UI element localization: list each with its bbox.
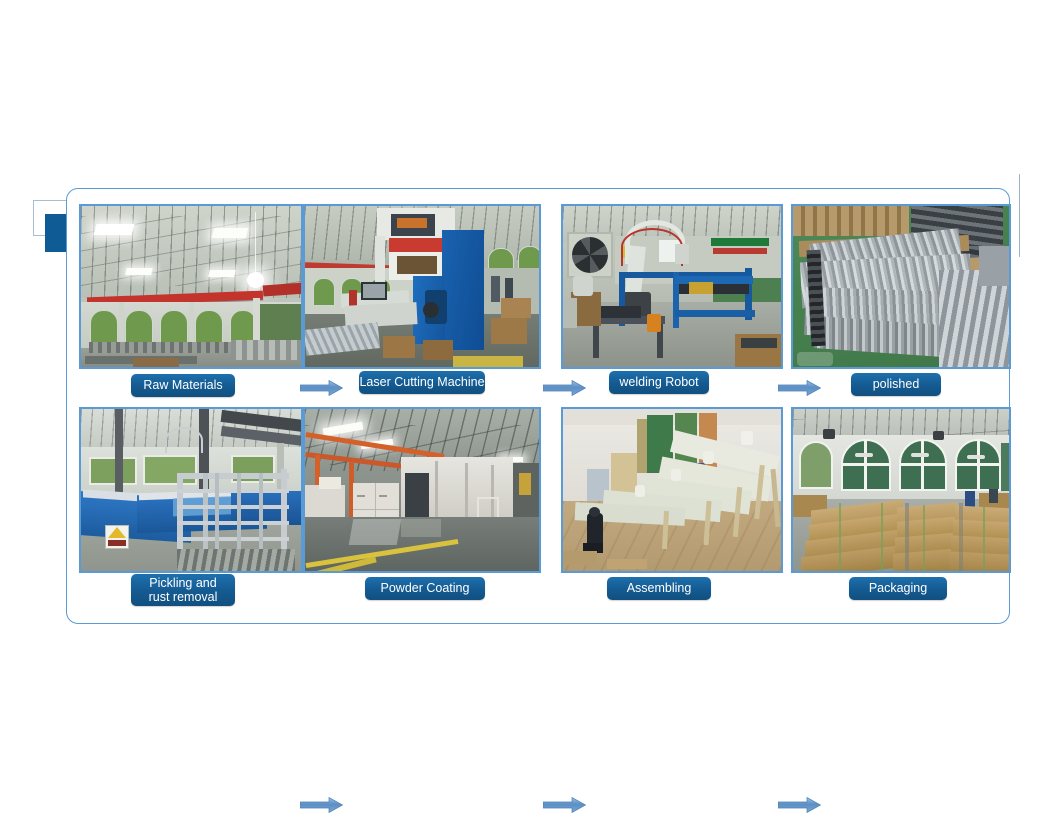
assembly-area-photo bbox=[561, 407, 783, 573]
workflow-step-polished[interactable]: polished bbox=[781, 195, 1011, 400]
step-label-line-2: rust removal bbox=[149, 590, 218, 604]
arrow-right-icon bbox=[300, 797, 343, 813]
step-label-welding-robot[interactable]: welding Robot bbox=[609, 371, 709, 394]
welding-robot-photo bbox=[561, 204, 783, 369]
polished-parts-photo bbox=[791, 204, 1011, 369]
step-label-powder-coating[interactable]: Powder Coating bbox=[365, 577, 485, 600]
workflow-step-packaging[interactable]: Packaging bbox=[781, 401, 1011, 606]
step-label-pickling[interactable]: Pickling and rust removal bbox=[131, 574, 235, 606]
workflow-step-powder-coating[interactable]: Powder Coating bbox=[303, 401, 551, 606]
step-label-raw-materials[interactable]: Raw Materials bbox=[131, 374, 235, 397]
packaging-warehouse-photo bbox=[791, 407, 1011, 573]
workflow-step-laser-cutting[interactable]: Laser Cutting Machine bbox=[303, 195, 551, 400]
header-divider-line bbox=[1019, 174, 1021, 257]
step-label-line-1: Pickling and bbox=[149, 576, 216, 590]
workflow-step-raw-materials[interactable]: Raw Materials bbox=[67, 195, 315, 400]
factory-workshop-photo bbox=[79, 204, 303, 369]
arrow-right-icon bbox=[778, 797, 821, 813]
step-label-packaging[interactable]: Packaging bbox=[849, 577, 947, 600]
arrow-right-icon bbox=[543, 797, 586, 813]
workflow-step-assembling[interactable]: Assembling bbox=[549, 401, 789, 606]
step-label-polished[interactable]: polished bbox=[851, 373, 941, 396]
powder-coating-line-photo bbox=[303, 407, 541, 573]
step-label-laser-cutting[interactable]: Laser Cutting Machine bbox=[359, 371, 485, 394]
page-header: Production Workflow Chart TOPMOST bbox=[0, 88, 1060, 178]
workflow-step-welding-robot[interactable]: welding Robot bbox=[549, 195, 789, 400]
workflow-row-1: Raw Materials bbox=[67, 195, 1011, 400]
workflow-panel: Raw Materials bbox=[66, 188, 1010, 624]
laser-cutting-machine-photo bbox=[303, 204, 541, 369]
workflow-row-2: Pickling and rust removal bbox=[67, 401, 1011, 606]
workflow-step-pickling[interactable]: Pickling and rust removal bbox=[67, 401, 315, 606]
step-label-assembling[interactable]: Assembling bbox=[607, 577, 711, 600]
pickling-tanks-photo bbox=[79, 407, 303, 573]
